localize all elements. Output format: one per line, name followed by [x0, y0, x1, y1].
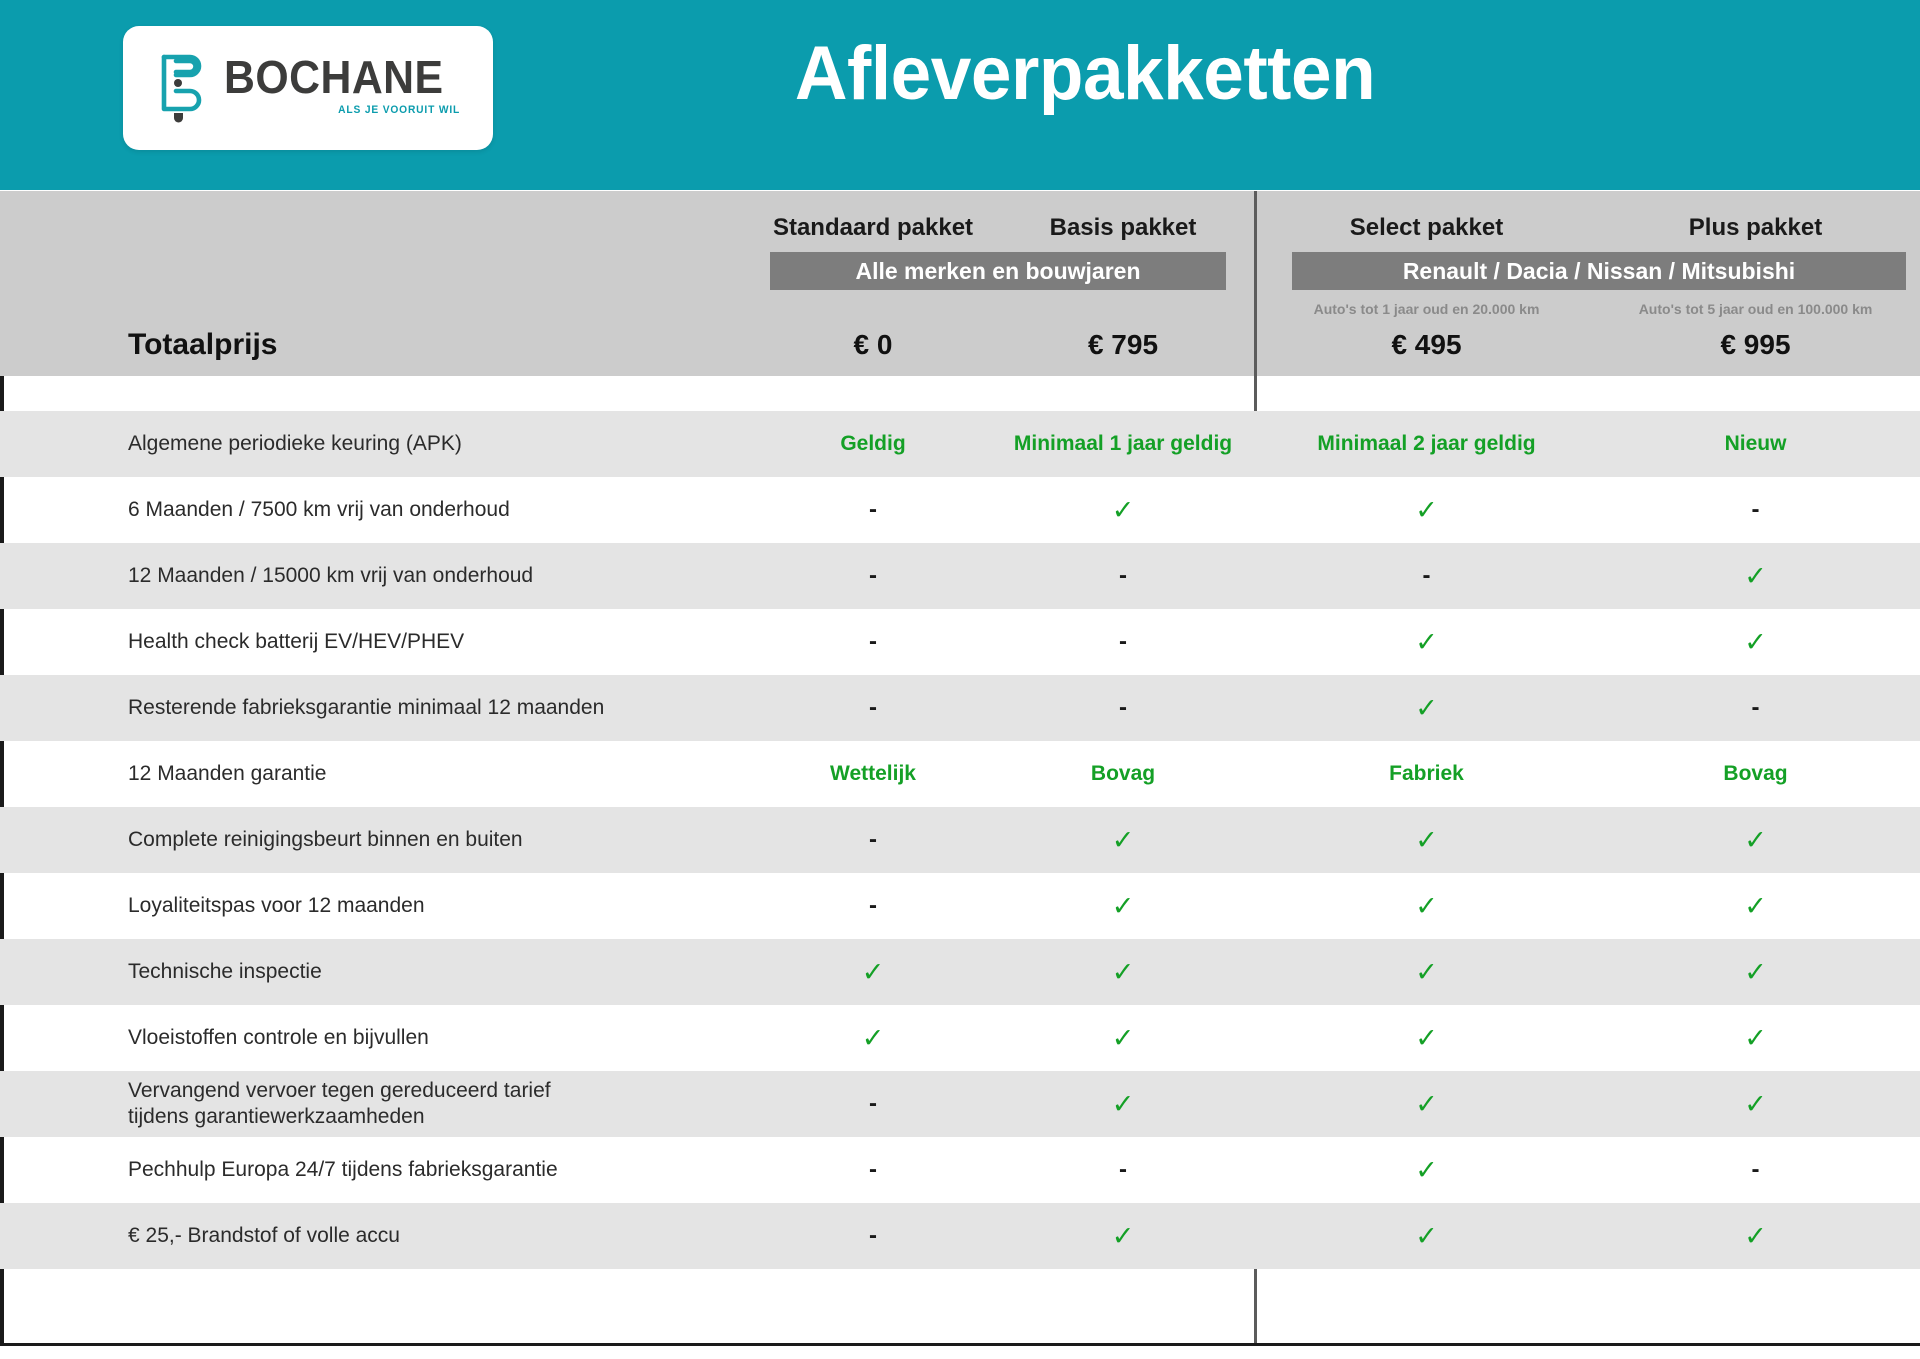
- table-row: Vloeistoffen controle en bijvullen✓✓✓✓: [0, 1005, 1920, 1071]
- page-header: BOCHANE ALS JE VOORUIT WIL Afleverpakket…: [0, 0, 1920, 190]
- row-cell-check: ✓: [998, 1025, 1248, 1052]
- left-group-cells: WettelijkBovag: [748, 762, 1248, 786]
- row-cell-dash: -: [748, 1224, 998, 1248]
- right-group-cells: -✓: [1262, 563, 1920, 590]
- right-group-cells: ✓✓: [1262, 827, 1920, 854]
- row-cell-check: ✓: [1591, 563, 1920, 590]
- total-price-row: Totaalprijs € 0 € 795 € 495 € 995: [0, 322, 1920, 368]
- left-edge-bar: [0, 1137, 4, 1203]
- row-cell-dash: -: [748, 696, 998, 720]
- right-group-cells: ✓✓: [1262, 959, 1920, 986]
- right-group-cells: ✓✓: [1262, 1025, 1920, 1052]
- row-cell-dash: -: [748, 894, 998, 918]
- row-cell-check: ✓: [1262, 1025, 1591, 1052]
- left-edge-bar: [0, 807, 4, 873]
- row-cell-check: ✓: [998, 959, 1248, 986]
- table-row: Vervangend vervoer tegen gereduceerd tar…: [0, 1071, 1920, 1137]
- row-cell-check: ✓: [1591, 629, 1920, 656]
- row-cell-txt: Minimaal 2 jaar geldig: [1262, 432, 1591, 456]
- left-group-cells: --: [748, 630, 1248, 654]
- row-cell-dash: -: [1262, 564, 1591, 588]
- left-edge-bar: [0, 675, 4, 741]
- row-cell-check: ✓: [1262, 695, 1591, 722]
- row-cell-txt: Wettelijk: [748, 762, 998, 786]
- row-label: Pechhulp Europa 24/7 tijdens fabrieksgar…: [0, 1157, 748, 1183]
- note-plus: Auto's tot 5 jaar oud en 100.000 km: [1591, 301, 1920, 317]
- row-cell-check: ✓: [998, 1091, 1248, 1118]
- row-label: Complete reinigingsbeurt binnen en buite…: [0, 827, 748, 853]
- row-label: Vloeistoffen controle en bijvullen: [0, 1025, 748, 1051]
- price-plus: € 995: [1591, 329, 1920, 361]
- row-cell-check: ✓: [1262, 959, 1591, 986]
- row-cell-check: ✓: [1262, 1091, 1591, 1118]
- row-cell-check: ✓: [1262, 1223, 1591, 1250]
- row-cell-txt: Geldig: [748, 432, 998, 456]
- row-cell-dash: -: [1591, 498, 1920, 522]
- left-edge-bar: [0, 376, 4, 411]
- row-cell-check: ✓: [1591, 1223, 1920, 1250]
- row-cell-dash: -: [748, 630, 998, 654]
- row-cell-dash: -: [748, 1092, 998, 1116]
- note-select: Auto's tot 1 jaar oud en 20.000 km: [1262, 301, 1591, 317]
- left-group-cells: -✓: [748, 1223, 1248, 1250]
- footer-strip: [0, 1269, 1920, 1346]
- row-label: € 25,- Brandstof of volle accu: [0, 1223, 748, 1249]
- row-cell-check: ✓: [1262, 1157, 1591, 1184]
- total-price-left-cells: € 0 € 795: [748, 329, 1248, 361]
- right-group-cells: ✓✓: [1262, 1091, 1920, 1118]
- table-row: 12 Maanden garantieWettelijkBovagFabriek…: [0, 741, 1920, 807]
- table-row: Health check batterij EV/HEV/PHEV--✓✓: [0, 609, 1920, 675]
- row-cell-txt: Nieuw: [1591, 432, 1920, 456]
- row-cell-check: ✓: [1591, 959, 1920, 986]
- poster-page: BOCHANE ALS JE VOORUIT WIL Afleverpakket…: [0, 0, 1920, 1359]
- left-group-cells: -✓: [748, 827, 1248, 854]
- group-divider-line: [1254, 376, 1257, 411]
- row-cell-check: ✓: [998, 1223, 1248, 1250]
- package-name-standaard: Standaard pakket: [748, 214, 998, 242]
- right-package-names: Select pakket Plus pakket: [1262, 214, 1920, 242]
- row-cell-dash: -: [748, 498, 998, 522]
- left-edge-bar: [0, 1269, 4, 1343]
- left-edge-bar: [0, 411, 4, 477]
- left-group-cells: -✓: [748, 497, 1248, 524]
- row-cell-check: ✓: [1591, 893, 1920, 920]
- total-price-label: Totaalprijs: [0, 328, 748, 362]
- row-label: Loyaliteitspas voor 12 maanden: [0, 893, 748, 919]
- left-group-cells: ✓✓: [748, 1025, 1248, 1052]
- package-name-basis: Basis pakket: [998, 214, 1248, 242]
- right-group-cells: ✓✓: [1262, 1223, 1920, 1250]
- row-cell-dash: -: [748, 828, 998, 852]
- left-group-cells: --: [748, 696, 1248, 720]
- price-standaard: € 0: [748, 329, 998, 361]
- row-cell-dash: -: [1591, 1158, 1920, 1182]
- left-edge-bar: [0, 939, 4, 1005]
- table-row: Pechhulp Europa 24/7 tijdens fabrieksgar…: [0, 1137, 1920, 1203]
- table-row: 12 Maanden / 15000 km vrij van onderhoud…: [0, 543, 1920, 609]
- table-row: Loyaliteitspas voor 12 maanden-✓✓✓: [0, 873, 1920, 939]
- row-cell-dash: -: [748, 564, 998, 588]
- row-cell-txt: Bovag: [998, 762, 1248, 786]
- row-cell-check: ✓: [998, 827, 1248, 854]
- row-label: 12 Maanden / 15000 km vrij van onderhoud: [0, 563, 748, 589]
- table-row: Technische inspectie✓✓✓✓: [0, 939, 1920, 1005]
- left-edge-bar: [0, 741, 4, 807]
- row-label: Vervangend vervoer tegen gereduceerd tar…: [0, 1078, 748, 1129]
- comparison-table: Algemene periodieke keuring (APK)GeldigM…: [0, 411, 1920, 1269]
- row-cell-check: ✓: [1262, 629, 1591, 656]
- left-edge-bar: [0, 1005, 4, 1071]
- total-price-right-cells: € 495 € 995: [1262, 329, 1920, 361]
- left-edge-bar: [0, 543, 4, 609]
- left-group-cells: --: [748, 1158, 1248, 1182]
- row-cell-check: ✓: [1591, 827, 1920, 854]
- table-row: Algemene periodieke keuring (APK)GeldigM…: [0, 411, 1920, 477]
- right-group-cells: ✓-: [1262, 695, 1920, 722]
- table-row: 6 Maanden / 7500 km vrij van onderhoud-✓…: [0, 477, 1920, 543]
- left-group-cells: GeldigMinimaal 1 jaar geldig: [748, 432, 1248, 456]
- row-cell-dash: -: [748, 1158, 998, 1182]
- row-cell-check: ✓: [1262, 827, 1591, 854]
- left-group-cells: -✓: [748, 1091, 1248, 1118]
- row-cell-check: ✓: [748, 959, 998, 986]
- left-group-cells: ✓✓: [748, 959, 1248, 986]
- left-edge-bar: [0, 609, 4, 675]
- row-cell-check: ✓: [1591, 1025, 1920, 1052]
- row-cell-dash: -: [998, 696, 1248, 720]
- right-group-cells: ✓-: [1262, 1157, 1920, 1184]
- column-header-block: Standaard pakket Basis pakket Alle merke…: [0, 190, 1920, 376]
- header-spacer-strip: [0, 376, 1920, 411]
- right-group-cells: Minimaal 2 jaar geldigNieuw: [1262, 432, 1920, 456]
- row-label: Health check batterij EV/HEV/PHEV: [0, 629, 748, 655]
- row-label: 12 Maanden garantie: [0, 761, 748, 787]
- left-edge-bar: [0, 873, 4, 939]
- price-basis: € 795: [998, 329, 1248, 361]
- row-cell-check: ✓: [1591, 1091, 1920, 1118]
- row-cell-dash: -: [998, 630, 1248, 654]
- row-label: Resterende fabrieksgarantie minimaal 12 …: [0, 695, 748, 721]
- row-cell-dash: -: [1591, 696, 1920, 720]
- left-edge-bar: [0, 1071, 4, 1137]
- row-cell-txt: Minimaal 1 jaar geldig: [998, 432, 1248, 456]
- right-group-notes: Auto's tot 1 jaar oud en 20.000 km Auto'…: [1262, 301, 1920, 317]
- table-row: Resterende fabrieksgarantie minimaal 12 …: [0, 675, 1920, 741]
- row-cell-check: ✓: [1262, 497, 1591, 524]
- row-label: Algemene periodieke keuring (APK): [0, 431, 748, 457]
- page-title: Afleverpakketten: [283, 30, 1886, 117]
- row-cell-txt: Bovag: [1591, 762, 1920, 786]
- left-edge-bar: [0, 477, 4, 543]
- row-label: Technische inspectie: [0, 959, 748, 985]
- row-cell-dash: -: [998, 1158, 1248, 1182]
- package-name-plus: Plus pakket: [1591, 214, 1920, 242]
- right-group-cells: ✓✓: [1262, 893, 1920, 920]
- left-package-names: Standaard pakket Basis pakket: [748, 214, 1248, 242]
- table-row: Complete reinigingsbeurt binnen en buite…: [0, 807, 1920, 873]
- row-cell-check: ✓: [1262, 893, 1591, 920]
- right-group-cells: FabriekBovag: [1262, 762, 1920, 786]
- left-group-cells: --: [748, 564, 1248, 588]
- right-group-cells: ✓-: [1262, 497, 1920, 524]
- left-edge-bar: [0, 1203, 4, 1269]
- bochane-b-mark-icon: [156, 49, 210, 123]
- row-cell-check: ✓: [998, 893, 1248, 920]
- price-select: € 495: [1262, 329, 1591, 361]
- row-cell-check: ✓: [998, 497, 1248, 524]
- right-group-scope-band: Renault / Dacia / Nissan / Mitsubishi: [1292, 252, 1906, 290]
- package-name-select: Select pakket: [1262, 214, 1591, 242]
- left-group-cells: -✓: [748, 893, 1248, 920]
- table-row: € 25,- Brandstof of volle accu-✓✓✓: [0, 1203, 1920, 1269]
- row-cell-dash: -: [998, 564, 1248, 588]
- row-cell-check: ✓: [748, 1025, 998, 1052]
- left-group-scope-band: Alle merken en bouwjaren: [770, 252, 1226, 290]
- row-label: 6 Maanden / 7500 km vrij van onderhoud: [0, 497, 748, 523]
- group-divider-line: [1254, 1269, 1257, 1343]
- right-group-cells: ✓✓: [1262, 629, 1920, 656]
- row-cell-txt: Fabriek: [1262, 762, 1591, 786]
